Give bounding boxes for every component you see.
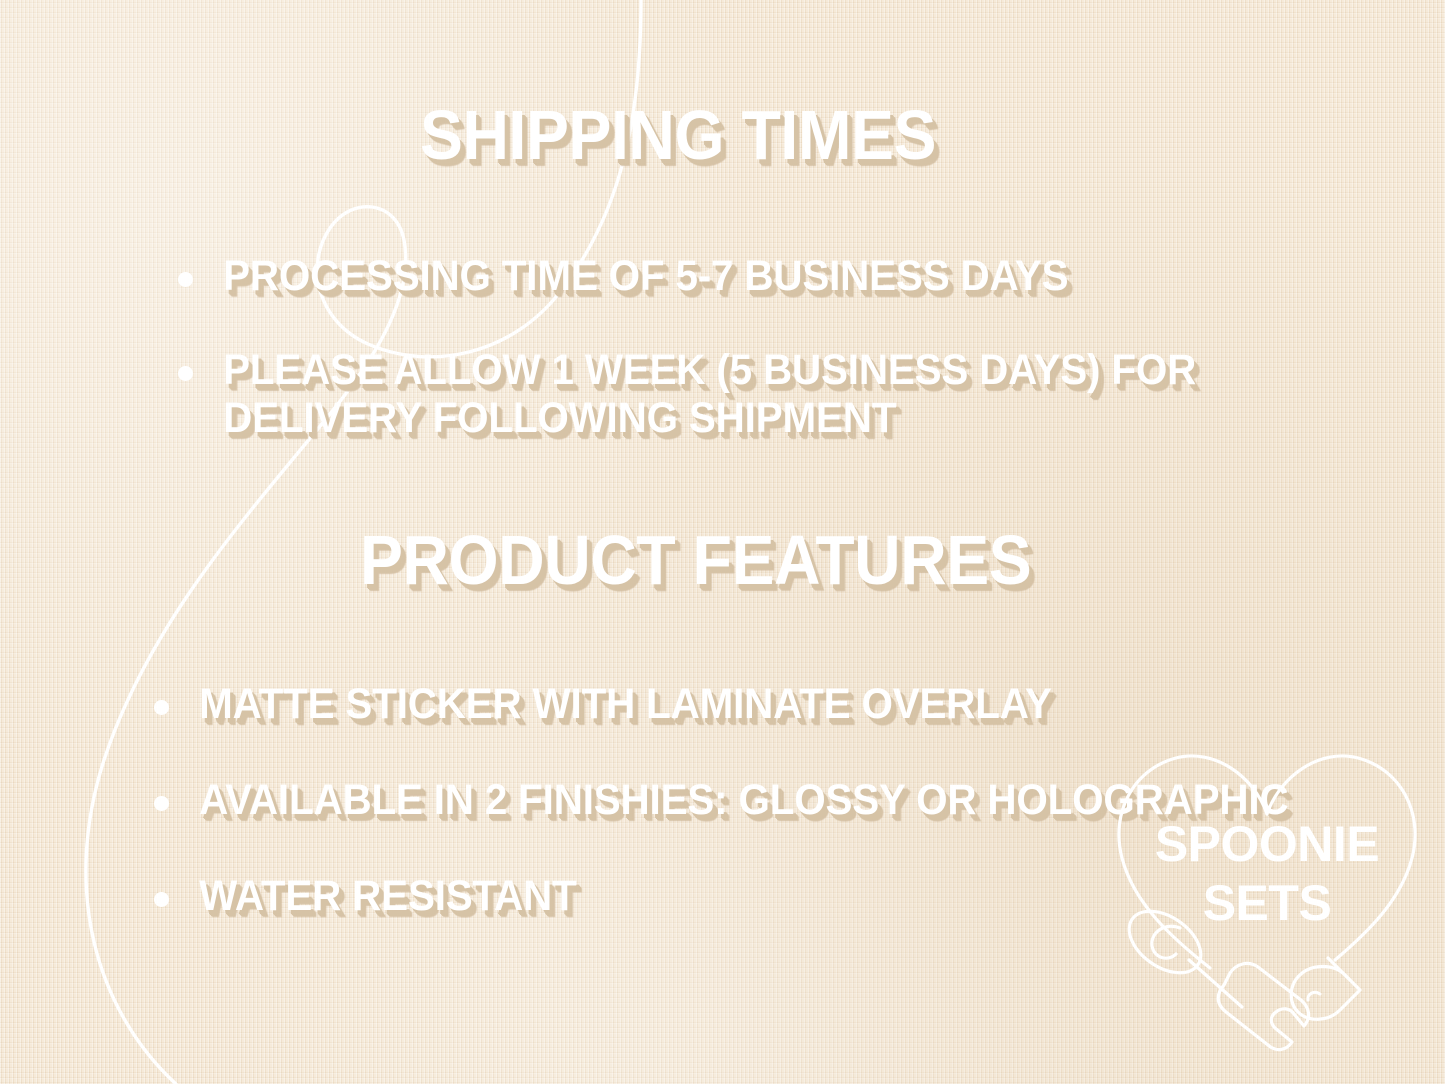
brand-logo: SPOONIE SETS: [1092, 742, 1442, 1072]
poster-canvas: SHIPPING TIMES PROCESSING TIME OF 5-7 BU…: [0, 0, 1445, 1084]
list-item: MATTE STICKER WITH LAMINATE OVERLAY: [154, 680, 1414, 728]
logo-wordmark: SPOONIE SETS: [1092, 820, 1442, 928]
list-item-label: MATTE STICKER WITH LAMINATE OVERLAY: [154, 680, 1338, 728]
list-item: PROCESSING TIME OF 5-7 BUSINESS DAYS: [178, 252, 1418, 300]
list-item-label: PROCESSING TIME OF 5-7 BUSINESS DAYS: [178, 252, 1344, 300]
logo-line-2: SETS: [1092, 879, 1442, 928]
logo-line-1: SPOONIE: [1092, 820, 1442, 869]
features-heading: PRODUCT FEATURES: [360, 525, 1031, 595]
shipping-heading: SHIPPING TIMES: [420, 100, 936, 170]
list-item: PLEASE ALLOW 1 WEEK (5 BUSINESS DAYS) FO…: [178, 346, 1418, 442]
shipping-bullet-list: PROCESSING TIME OF 5-7 BUSINESS DAYS PLE…: [178, 252, 1418, 442]
list-item-label: PLEASE ALLOW 1 WEEK (5 BUSINESS DAYS) FO…: [178, 346, 1344, 442]
